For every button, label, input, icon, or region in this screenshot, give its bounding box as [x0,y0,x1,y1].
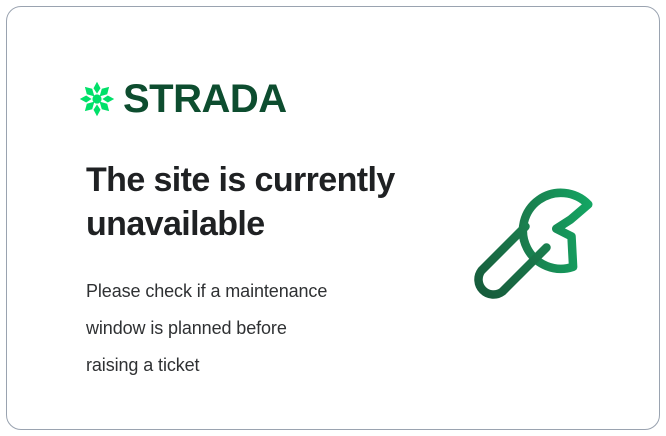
body-copy-line: Please check if a maintenance [86,273,396,310]
body-copy-line: window is planned before [86,310,396,347]
wrench-icon [465,164,613,312]
error-page: STRADA The site is currently unavailable… [0,0,666,436]
strada-starburst-icon [79,81,115,117]
body-copy-line: raising a ticket [86,347,396,384]
status-card: STRADA The site is currently unavailable… [6,6,660,430]
brand-logo: STRADA [79,76,287,122]
page-title: The site is currently unavailable [86,159,416,246]
brand-wordmark: STRADA [123,79,287,119]
body-copy: Please check if a maintenance window is … [86,273,396,384]
